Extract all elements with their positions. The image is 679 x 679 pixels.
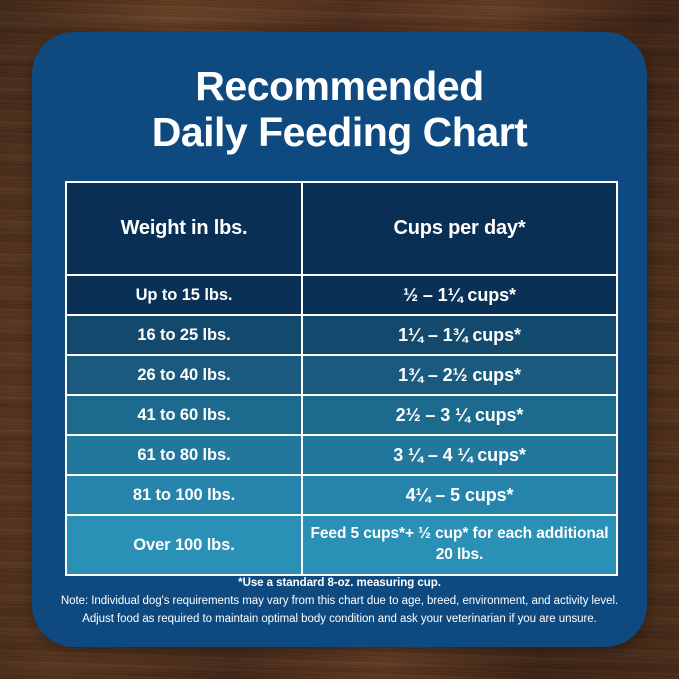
cell-cups: 1¼ – 1¾ cups* [303, 316, 616, 356]
table-header-row: Weight in lbs. Cups per day* [67, 183, 616, 276]
title-line-2: Daily Feeding Chart [58, 110, 621, 156]
table-row: 26 to 40 lbs. 1¾ – 2½ cups* [67, 356, 616, 396]
feeding-chart-card: Recommended Daily Feeding Chart Weight i… [32, 32, 647, 647]
footnote-measuring-cup: *Use a standard 8-oz. measuring cup. [46, 575, 633, 593]
cell-cups: Feed 5 cups*+ ½ cup* for each additional… [303, 516, 616, 574]
footnote-adjust: Adjust food as required to maintain opti… [46, 611, 633, 629]
footnote-note: Note: Individual dog's requirements may … [46, 593, 633, 611]
cell-weight: 26 to 40 lbs. [67, 356, 303, 396]
column-header-weight: Weight in lbs. [67, 183, 303, 276]
cell-cups: ½ – 1¼ cups* [303, 276, 616, 316]
cell-cups: 2½ – 3 ¼ cups* [303, 396, 616, 436]
cell-cups: 3 ¼ – 4 ¼ cups* [303, 436, 616, 476]
table-row: 16 to 25 lbs. 1¼ – 1¾ cups* [67, 316, 616, 356]
table-row: 81 to 100 lbs. 4¼ – 5 cups* [67, 476, 616, 516]
cell-weight: 81 to 100 lbs. [67, 476, 303, 516]
cell-cups: 4¼ – 5 cups* [303, 476, 616, 516]
footnotes: *Use a standard 8-oz. measuring cup. Not… [32, 575, 647, 628]
table-row: Up to 15 lbs. ½ – 1¼ cups* [67, 276, 616, 316]
cell-cups: 1¾ – 2½ cups* [303, 356, 616, 396]
table-row: 41 to 60 lbs. 2½ – 3 ¼ cups* [67, 396, 616, 436]
title-line-1: Recommended [58, 64, 621, 110]
cell-weight: Over 100 lbs. [67, 516, 303, 574]
page-title: Recommended Daily Feeding Chart [32, 64, 647, 156]
cell-weight: 16 to 25 lbs. [67, 316, 303, 356]
table-row: 61 to 80 lbs. 3 ¼ – 4 ¼ cups* [67, 436, 616, 476]
feeding-table: Weight in lbs. Cups per day* Up to 15 lb… [65, 181, 618, 576]
cell-weight: 41 to 60 lbs. [67, 396, 303, 436]
column-header-cups: Cups per day* [303, 183, 616, 276]
cell-weight: Up to 15 lbs. [67, 276, 303, 316]
table-row: Over 100 lbs. Feed 5 cups*+ ½ cup* for e… [67, 516, 616, 574]
cell-weight: 61 to 80 lbs. [67, 436, 303, 476]
